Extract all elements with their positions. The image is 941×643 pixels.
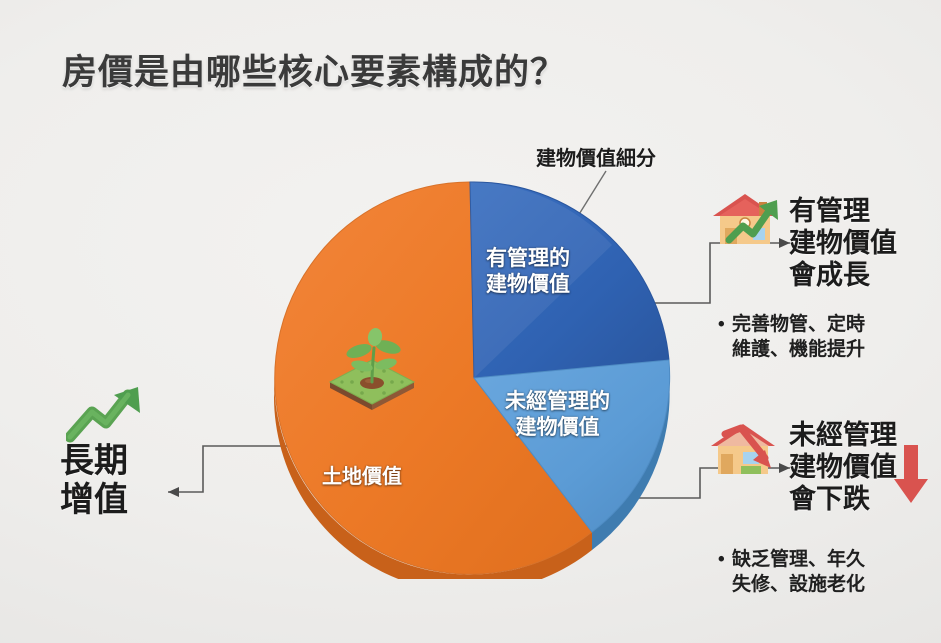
slide-canvas: 房價是由哪些核心要素構成的？ 建物價值細分: [0, 0, 941, 643]
seedling-land-icon: [326, 326, 418, 412]
drop-bullet-line2: 失修、設施老化: [718, 573, 865, 598]
grow-callout-bullet: •完善物管、定時 維護、機能提升: [718, 313, 865, 362]
drop-head-line3: 會下跌: [789, 484, 870, 514]
grow-callout-head: 有管理 建物價值 會成長: [789, 196, 897, 292]
left-callout-head: 長期 增值: [60, 442, 128, 521]
drop-callout-bullet: •缺乏管理、年久 失修、設施老化: [718, 548, 865, 597]
green-up-arrow-icon: [66, 385, 144, 443]
drop-head-line2: 建物價值: [789, 452, 897, 482]
red-down-arrow-icon: [892, 443, 930, 505]
grow-bullet-line1: 完善物管、定時: [732, 314, 865, 335]
drop-head-line1: 未經管理: [789, 420, 897, 450]
bullet-dot-icon: •: [718, 313, 732, 338]
pie-annotation-label: 建物價值細分: [536, 142, 656, 171]
left-callout-line1: 長期: [60, 442, 128, 480]
grow-head-line3: 會成長: [789, 260, 870, 290]
left-callout-line2: 增值: [60, 481, 128, 519]
grow-head-line1: 有管理: [789, 196, 870, 226]
drop-callout-head: 未經管理 建物價值 會下跌: [789, 420, 897, 516]
house-up-arrow-icon: [709, 190, 781, 248]
grow-head-line2: 建物價值: [789, 228, 897, 258]
bullet-dot-icon: •: [718, 548, 732, 573]
grow-bullet-line2: 維護、機能提升: [718, 338, 865, 363]
drop-bullet-line1: 缺乏管理、年久: [732, 549, 865, 570]
house-down-arrow-icon: [707, 420, 779, 478]
